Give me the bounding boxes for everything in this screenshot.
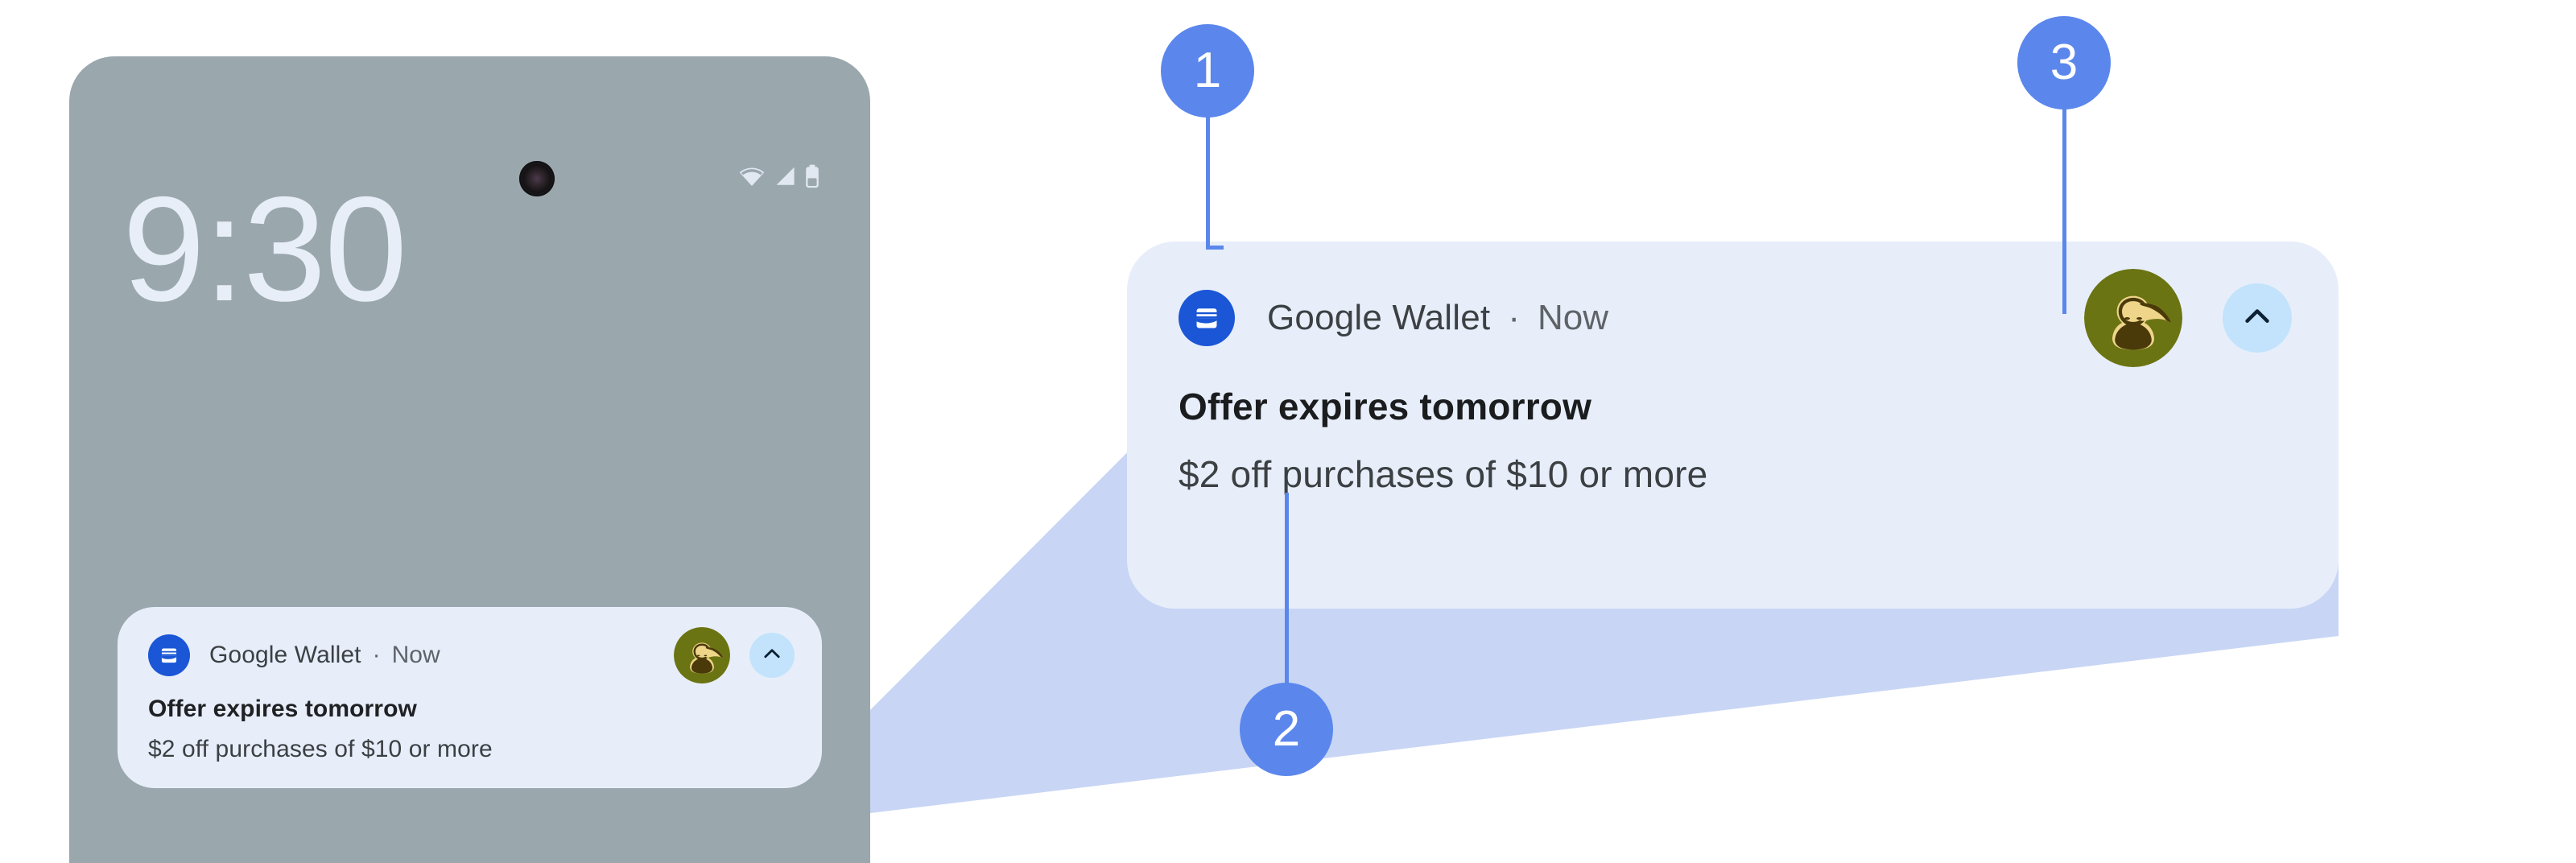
status-bar bbox=[738, 164, 820, 188]
merchant-logo-avatar bbox=[2084, 269, 2182, 367]
expand-notification-button[interactable] bbox=[749, 633, 795, 678]
front-camera-punch-hole-icon bbox=[519, 161, 555, 196]
notification-card-zoomed[interactable]: Google Wallet · Now bbox=[1127, 242, 2339, 609]
notification-body: $2 off purchases of $10 or more bbox=[148, 736, 795, 763]
notification-header-small: Google Wallet · Now bbox=[148, 631, 795, 679]
notification-body: $2 off purchases of $10 or more bbox=[1179, 452, 2292, 496]
callout-number-3: 3 bbox=[2017, 16, 2111, 109]
notification-title: Offer expires tomorrow bbox=[1179, 385, 2292, 428]
notification-separator: · bbox=[373, 642, 381, 669]
notification-timestamp: Now bbox=[392, 642, 440, 669]
lockscreen-clock: 9:30 bbox=[122, 175, 406, 324]
screenshot-canvas: 9:30 Google Wallet · Now bbox=[0, 0, 2576, 863]
expand-notification-button[interactable] bbox=[2223, 283, 2292, 353]
notification-app-name: Google Wallet bbox=[209, 642, 361, 669]
notification-separator: · bbox=[1508, 298, 1520, 338]
callout-number-1: 1 bbox=[1161, 24, 1254, 118]
phone-mockup: 9:30 Google Wallet · Now bbox=[69, 56, 870, 863]
callout-leader-line bbox=[1206, 114, 1210, 250]
notification-header-zoomed: Google Wallet · Now bbox=[1179, 283, 2292, 353]
notification-card-small[interactable]: Google Wallet · Now bbox=[118, 607, 822, 788]
chevron-up-icon bbox=[760, 642, 784, 670]
callout-number-2: 2 bbox=[1240, 683, 1333, 776]
notification-title: Offer expires tomorrow bbox=[148, 696, 795, 723]
chevron-up-icon bbox=[2239, 298, 2276, 339]
notification-timestamp: Now bbox=[1538, 298, 1608, 338]
callout-leader-elbow bbox=[1206, 246, 1224, 250]
cellular-signal-icon bbox=[773, 166, 797, 187]
battery-icon bbox=[804, 164, 820, 188]
wifi-icon bbox=[738, 166, 766, 187]
google-wallet-icon bbox=[148, 634, 190, 676]
notification-app-name: Google Wallet bbox=[1267, 298, 1490, 338]
google-wallet-icon bbox=[1179, 290, 1235, 346]
merchant-logo-avatar bbox=[674, 627, 730, 683]
callout-leader-line bbox=[2062, 106, 2066, 314]
callout-leader-line bbox=[1285, 493, 1289, 692]
